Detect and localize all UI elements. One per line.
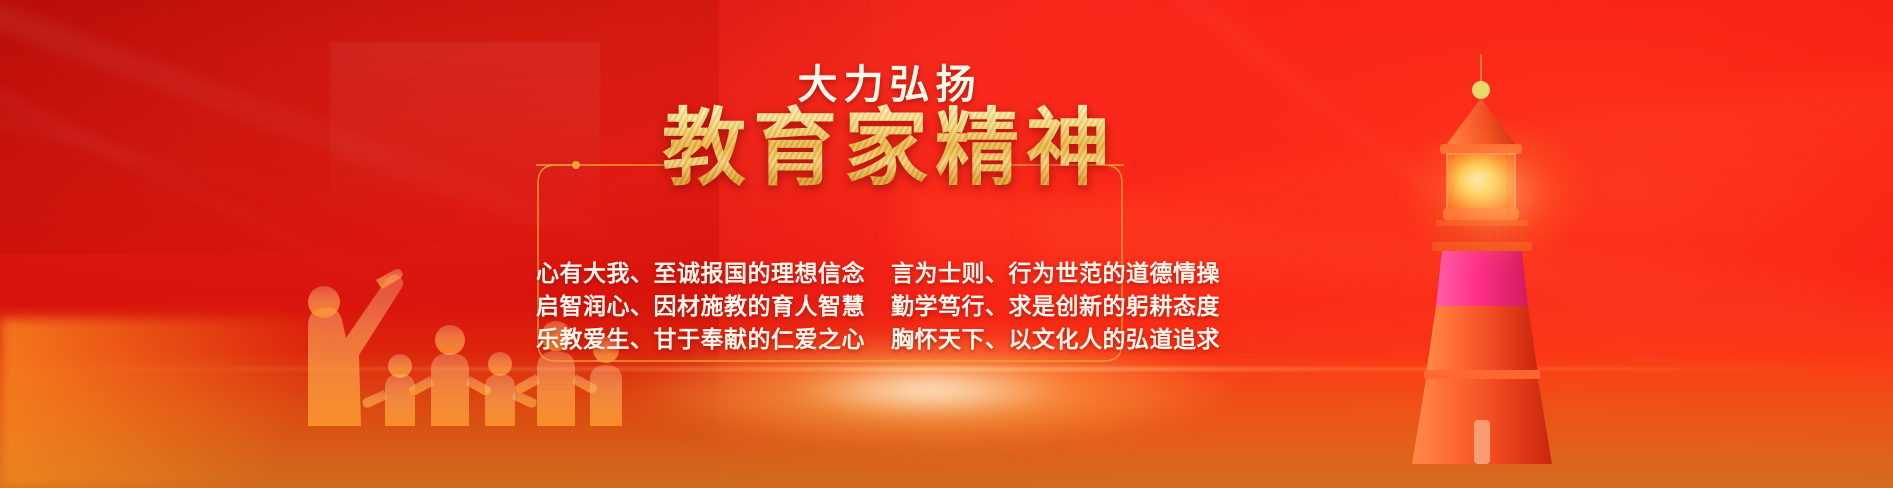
slogan-right: 言为士则、行为世范的道德情操 [891, 262, 1220, 285]
slogan-right: 勤学笃行、求是创新的躬耕态度 [891, 295, 1220, 318]
headline-text: 教育家精神 [0, 104, 1836, 192]
slogan-block: 心有大我、至诚报国的理想信念 言为士则、行为世范的道德情操 启智润心、因材施教的… [536, 262, 1126, 361]
slogan-left: 乐教爱生、甘于奉献的仁爱之心 [536, 328, 865, 351]
slogan-right: 胸怀天下、以文化人的弘道追求 [891, 328, 1220, 351]
slogan-left: 启智润心、因材施教的育人智慧 [536, 295, 865, 318]
slogan-row: 启智润心、因材施教的育人智慧 勤学笃行、求是创新的躬耕态度 [536, 295, 1126, 318]
slogan-row: 心有大我、至诚报国的理想信念 言为士则、行为世范的道德情操 [536, 262, 1126, 285]
slogan-row: 乐教爱生、甘于奉献的仁爱之心 胸怀天下、以文化人的弘道追求 [536, 328, 1126, 351]
slogan-left: 心有大我、至诚报国的理想信念 [536, 262, 865, 285]
banner-root: 大力弘扬 教育家精神 心有大我、至诚报国的理想信念 言为士则、行为世范的道德情操… [0, 0, 1893, 488]
